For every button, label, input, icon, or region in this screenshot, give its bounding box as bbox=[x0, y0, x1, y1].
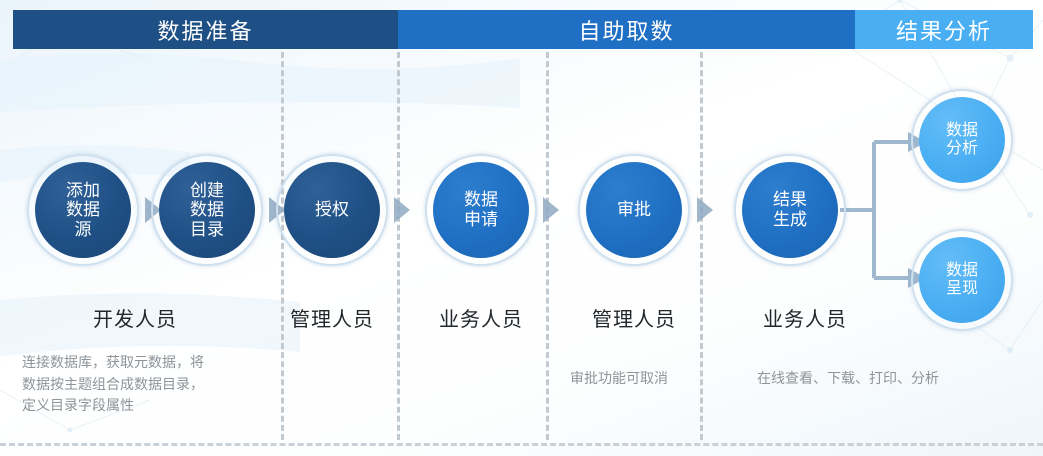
triangle-right-icon bbox=[697, 197, 713, 223]
node-label: 审批 bbox=[617, 200, 651, 220]
lane-separator bbox=[546, 52, 549, 440]
node-data-request[interactable]: 数据 申请 bbox=[433, 162, 529, 258]
node-data-presentation[interactable]: 数据 呈现 bbox=[919, 237, 1005, 323]
role-label-business-user-2: 业务人员 bbox=[763, 303, 847, 332]
description-approval: 审批功能可取消 bbox=[570, 368, 668, 390]
node-label: 数据 呈现 bbox=[946, 262, 978, 299]
node-add-data-source[interactable]: 添加 数据 源 bbox=[35, 162, 131, 258]
role-label-developer: 开发人员 bbox=[93, 303, 177, 332]
lane-separator bbox=[397, 52, 400, 440]
description-data-preparation: 连接数据库，获取元数据，将 数据按主题组合成数据目录， 定义目录字段属性 bbox=[22, 352, 204, 417]
phase-self-service-query[interactable]: 自助取数 bbox=[398, 10, 855, 49]
role-label-business-user-1: 业务人员 bbox=[439, 303, 523, 332]
node-label: 结果 生成 bbox=[773, 190, 807, 229]
phase-label: 结果分析 bbox=[896, 14, 992, 46]
triangle-right-icon bbox=[543, 197, 559, 223]
phase-result-analysis[interactable]: 结果分析 bbox=[855, 10, 1033, 49]
node-data-analysis[interactable]: 数据 分析 bbox=[919, 97, 1005, 183]
node-label: 数据 分析 bbox=[946, 122, 978, 159]
role-label-administrator-2: 管理人员 bbox=[592, 303, 676, 332]
lane-separator bbox=[281, 52, 284, 440]
flow-diagram-canvas: 数据准备 自助取数 结果分析 添加 数据 源 创建 数据 目录 授权 bbox=[0, 0, 1043, 456]
node-authorization[interactable]: 授权 bbox=[284, 162, 380, 258]
node-label: 授权 bbox=[315, 200, 349, 220]
triangle-right-icon bbox=[394, 197, 410, 223]
phase-data-preparation[interactable]: 数据准备 bbox=[13, 10, 398, 49]
description-result-analysis: 在线查看、下载、打印、分析 bbox=[757, 368, 939, 390]
node-create-data-catalog[interactable]: 创建 数据 目录 bbox=[159, 162, 255, 258]
node-label: 创建 数据 目录 bbox=[190, 181, 224, 240]
node-label: 数据 申请 bbox=[464, 190, 498, 229]
bottom-separator bbox=[0, 443, 1043, 446]
phase-label: 数据准备 bbox=[157, 14, 253, 46]
role-label-administrator-1: 管理人员 bbox=[290, 303, 374, 332]
phase-label: 自助取数 bbox=[578, 14, 674, 46]
node-label: 添加 数据 源 bbox=[66, 181, 100, 240]
node-result-generation[interactable]: 结果 生成 bbox=[742, 162, 838, 258]
lane-separator bbox=[700, 52, 703, 440]
node-approval[interactable]: 审批 bbox=[586, 162, 682, 258]
phase-header-bar: 数据准备 自助取数 结果分析 bbox=[13, 10, 1033, 49]
